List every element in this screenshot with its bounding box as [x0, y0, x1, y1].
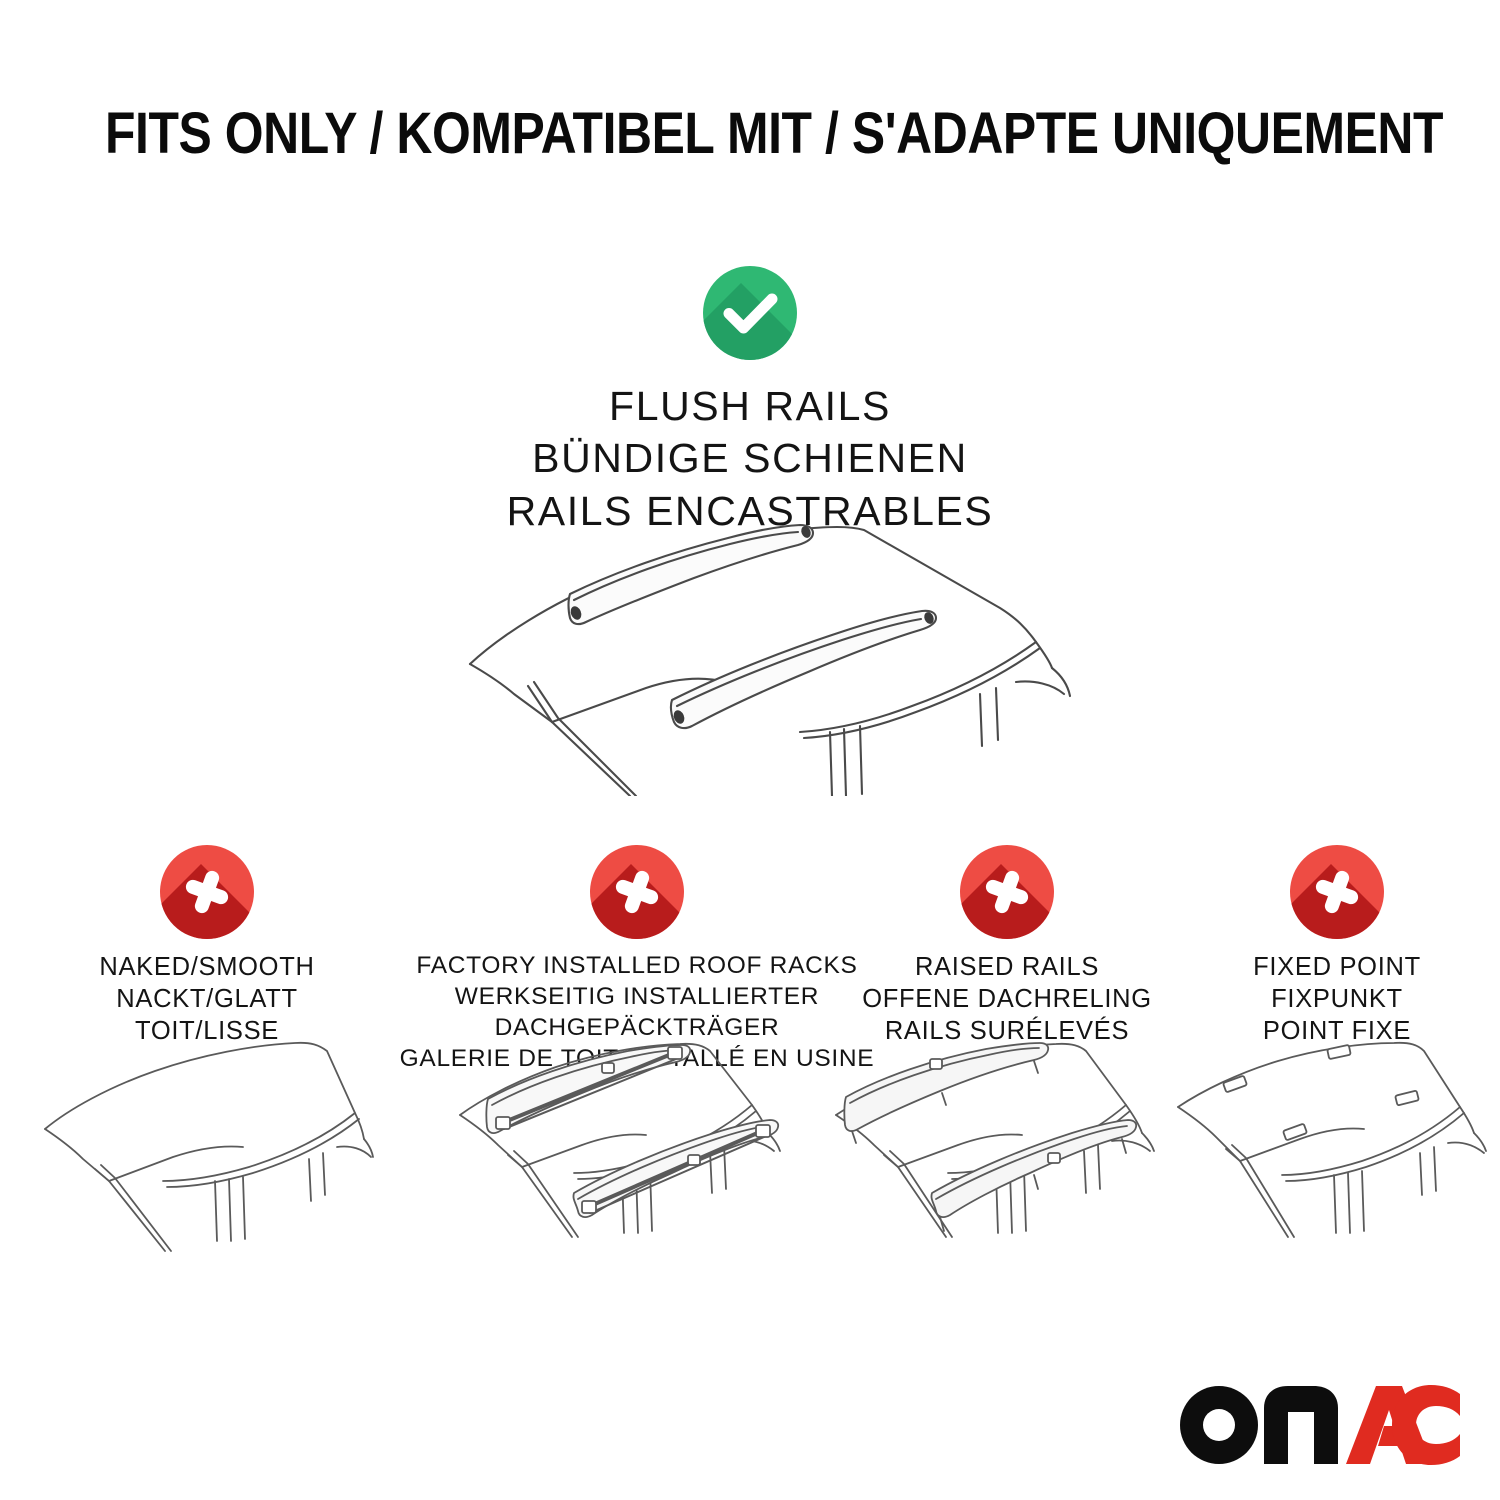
compatible-label-de: BÜNDIGE SCHIENEN [0, 432, 1500, 484]
incompatible-item-factory-roof-racks: FACTORY INSTALLED ROOF RACKS WERKSEITIG … [397, 845, 877, 1074]
incompatible-section: NAKED/SMOOTH NACKT/GLATT TOIT/LISSE [0, 845, 1500, 1285]
x-circle-icon [160, 845, 254, 939]
incompatible-item-naked-smooth: NAKED/SMOOTH NACKT/GLATT TOIT/LISSE [27, 845, 387, 1047]
check-mark-glyph [703, 266, 797, 360]
incompatible-label-group: NAKED/SMOOTH NACKT/GLATT TOIT/LISSE [27, 951, 387, 1047]
incompatible-item-raised-rails: RAISED RAILS OFFENE DACHRELING RAILS SUR… [827, 845, 1187, 1047]
x-mark-glyph [960, 845, 1054, 939]
check-circle-icon [703, 266, 797, 360]
compatible-label-en: FLUSH RAILS [0, 380, 1500, 432]
label-de: NACKT/GLATT [27, 983, 387, 1015]
car-roof-factory-rack-illustration [452, 1041, 822, 1261]
x-mark-glyph [160, 845, 254, 939]
car-roof-flush-rails-illustration [440, 496, 1080, 796]
label-en: FIXED POINT [1172, 951, 1500, 983]
logo-letter-o [1180, 1386, 1258, 1464]
header: FITS ONLY / KOMPATIBEL MIT / S'ADAPTE UN… [0, 104, 1500, 165]
logo-letter-m [1264, 1386, 1338, 1464]
label-de: OFFENE DACHRELING [827, 983, 1187, 1015]
label-en: NAKED/SMOOTH [27, 951, 387, 983]
label-de-1: WERKSEITIG INSTALLIERTER [397, 982, 877, 1013]
label-de-2: DACHGEPÄCKTRÄGER [397, 1013, 877, 1044]
incompatible-item-fixed-point: FIXED POINT FIXPUNKT POINT FIXE [1172, 845, 1500, 1047]
label-en: RAISED RAILS [827, 951, 1187, 983]
car-roof-naked-illustration [37, 1041, 377, 1261]
x-circle-icon [590, 845, 684, 939]
x-mark-glyph [590, 845, 684, 939]
car-roof-raised-rails-illustration [822, 1041, 1192, 1261]
omac-logo [1178, 1382, 1460, 1468]
x-circle-icon [960, 845, 1054, 939]
x-circle-icon [1290, 845, 1384, 939]
incompatible-label-group: RAISED RAILS OFFENE DACHRELING RAILS SUR… [827, 951, 1187, 1047]
label-de: FIXPUNKT [1172, 983, 1500, 1015]
label-en: FACTORY INSTALLED ROOF RACKS [397, 951, 877, 982]
car-roof-fixed-point-illustration [1172, 1041, 1500, 1261]
incompatible-label-group: FIXED POINT FIXPUNKT POINT FIXE [1172, 951, 1500, 1047]
page-title: FITS ONLY / KOMPATIBEL MIT / S'ADAPTE UN… [105, 104, 1395, 165]
x-mark-glyph [1290, 845, 1384, 939]
